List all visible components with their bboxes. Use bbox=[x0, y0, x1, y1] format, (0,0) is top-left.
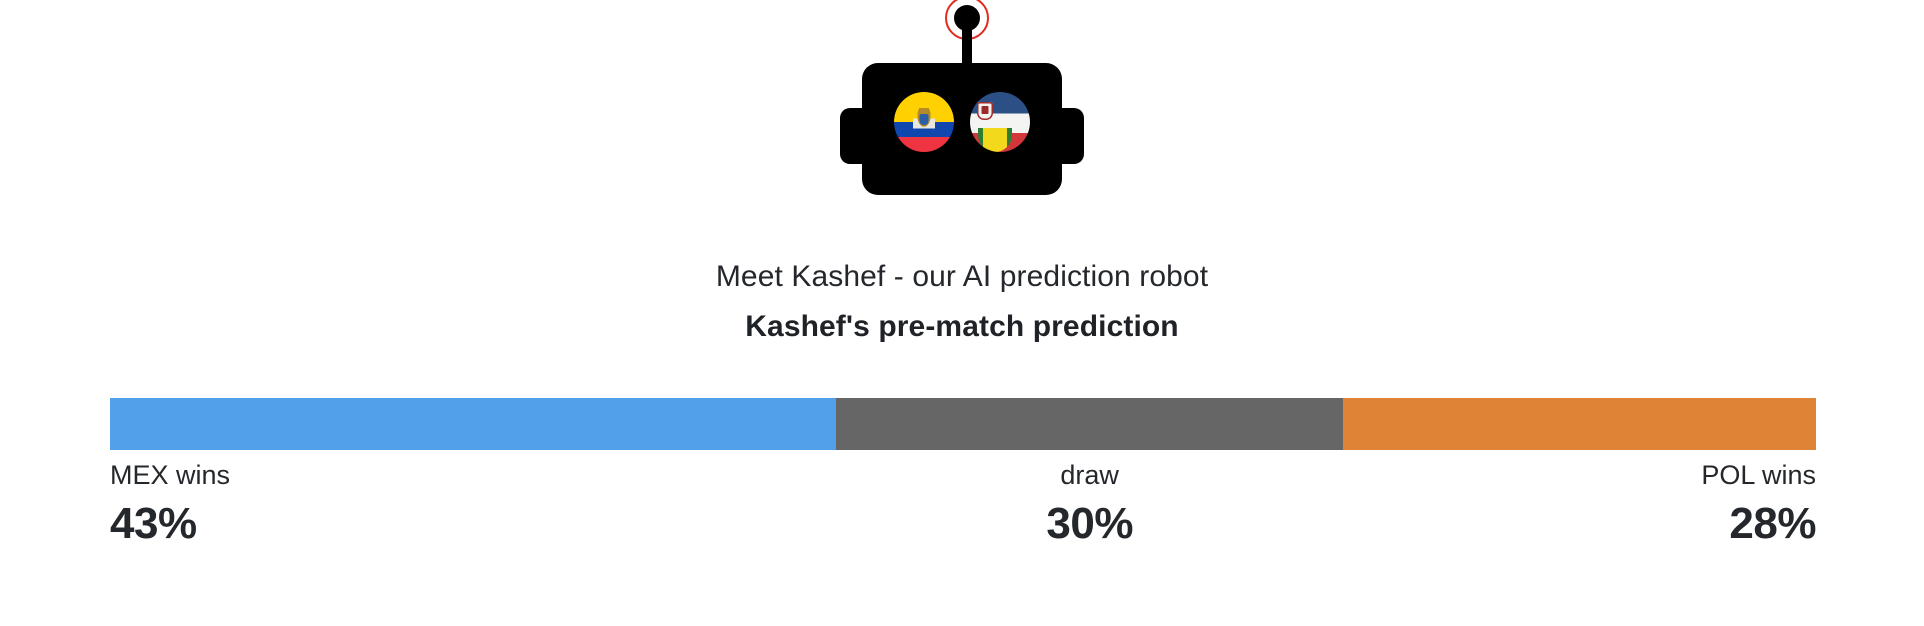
robot-mouth-icon bbox=[946, 211, 1006, 229]
legend-item-draw: draw 30% bbox=[836, 458, 1343, 550]
headings-block: Meet Kashef - our AI prediction robot Ka… bbox=[0, 258, 1924, 345]
legend-label-home-win: MEX wins bbox=[110, 458, 230, 493]
robot-mascot bbox=[0, 0, 1924, 232]
bar-segment-away-win bbox=[1343, 398, 1816, 450]
prediction-bar bbox=[110, 398, 1816, 450]
robot-eye-left-ecuador-flag-icon bbox=[894, 92, 954, 152]
serbia-coat-of-arms-icon bbox=[977, 102, 993, 120]
robot-tagline: Meet Kashef - our AI prediction robot bbox=[0, 258, 1924, 296]
legend-value-draw: 30% bbox=[1046, 499, 1133, 550]
bar-segment-home-win bbox=[110, 398, 836, 450]
robot-figure bbox=[842, 0, 1082, 232]
legend-item-away-win: POL wins 28% bbox=[1343, 458, 1816, 550]
robot-eye-right-serbia-flag-icon bbox=[970, 92, 1030, 152]
prediction-legend: MEX wins 43% draw 30% POL wins 28% bbox=[110, 458, 1816, 550]
legend-label-draw: draw bbox=[1060, 458, 1119, 493]
prediction-widget: Meet Kashef - our AI prediction robot Ka… bbox=[0, 0, 1924, 626]
prediction-title: Kashef's pre-match prediction bbox=[0, 308, 1924, 346]
legend-value-home-win: 43% bbox=[110, 499, 197, 550]
legend-item-home-win: MEX wins 43% bbox=[110, 458, 836, 550]
ecuador-coat-of-arms-icon bbox=[913, 108, 935, 134]
bar-segment-draw bbox=[836, 398, 1343, 450]
robot-head bbox=[862, 63, 1062, 195]
legend-label-away-win: POL wins bbox=[1701, 458, 1816, 493]
legend-value-away-win: 28% bbox=[1729, 499, 1816, 550]
